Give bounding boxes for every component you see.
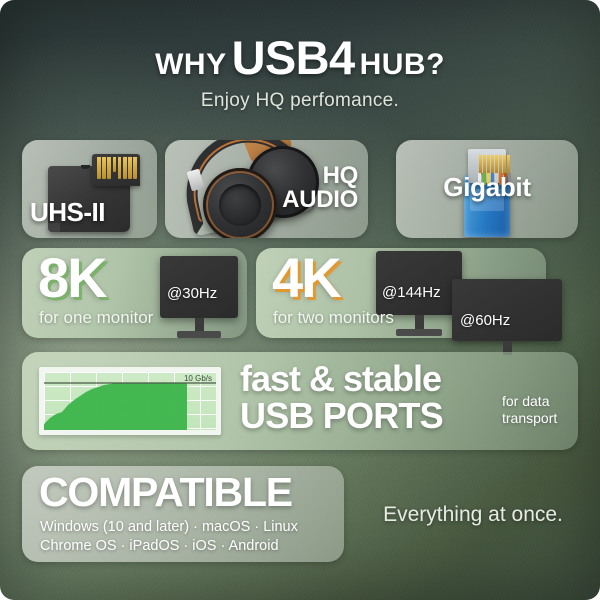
display-card-8k: 8K for one monitor @30Hz	[22, 248, 247, 338]
refresh-rate-4k-secondary: @60Hz	[460, 312, 510, 329]
display-card-4k: 4K for two monitors @144Hz @60Hz	[256, 248, 546, 338]
compatible-os-list: Windows (10 and later) · macOS · Linux C…	[40, 518, 298, 557]
audio-label-line1: HQ	[282, 164, 358, 188]
chart-threshold-label: 10 Gb/s	[184, 374, 212, 383]
compatible-os-line2: Chrome OS · iPadOS · iOS · Android	[40, 537, 298, 556]
ports-line2: USB PORTS	[240, 397, 443, 435]
compatible-card: COMPATIBLE Windows (10 and later) · macO…	[22, 466, 344, 562]
tagline: Everything at once.	[358, 503, 588, 527]
resolution-4k-caption: for two monitors	[273, 308, 394, 328]
card-body: 8K for one monitor @30Hz	[22, 248, 247, 338]
feature-card-audio: HQ AUDIO	[165, 140, 368, 238]
compatible-title: COMPATIBLE	[39, 472, 292, 513]
ports-headline: fast & stable USB PORTS	[240, 361, 443, 435]
feature-card-uhs: UHS-II	[22, 140, 157, 238]
refresh-rate-4k-primary: @144Hz	[382, 284, 441, 301]
ports-note-line1: for data	[502, 393, 557, 410]
card-body: 4K for two monitors @144Hz @60Hz	[256, 248, 546, 338]
uhs-label: UHS-II	[30, 199, 105, 226]
title-suffix: HUB?	[360, 48, 445, 81]
header: WHYUSB4HUB? Enjoy HQ perfomance.	[0, 34, 600, 112]
feature-card-gigabit: Gigabit	[396, 140, 578, 238]
gigabit-label: Gigabit	[396, 174, 578, 201]
ports-card: 10 Gb/s fast & stable USB PORTS for data…	[22, 352, 578, 450]
throughput-chart: 10 Gb/s	[39, 367, 221, 435]
resolution-8k: 8K	[38, 250, 106, 306]
refresh-rate-8k: @30Hz	[167, 285, 217, 302]
ports-note-line2: transport	[502, 410, 557, 427]
title-main: USB4	[227, 31, 360, 84]
title-prefix: WHY	[155, 48, 227, 81]
infographic-poster: WHYUSB4HUB? Enjoy HQ perfomance. UHS-II	[0, 0, 600, 600]
monitor-icon-primary	[376, 251, 462, 315]
ports-note: for data transport	[502, 393, 557, 426]
ports-line1: fast & stable	[240, 361, 443, 397]
card-body: 10 Gb/s fast & stable USB PORTS for data…	[22, 352, 578, 450]
resolution-4k: 4K	[272, 250, 340, 306]
audio-label: HQ AUDIO	[282, 164, 358, 213]
monitor-icon-secondary	[452, 279, 562, 341]
resolution-8k-caption: for one monitor	[39, 308, 153, 328]
audio-label-line2: AUDIO	[282, 188, 358, 212]
card-body: COMPATIBLE Windows (10 and later) · macO…	[22, 466, 344, 562]
card-body: UHS-II	[22, 140, 157, 238]
page-subtitle: Enjoy HQ perfomance.	[0, 90, 600, 112]
compatible-os-line1: Windows (10 and later) · macOS · Linux	[40, 518, 298, 537]
page-title: WHYUSB4HUB?	[0, 34, 600, 81]
